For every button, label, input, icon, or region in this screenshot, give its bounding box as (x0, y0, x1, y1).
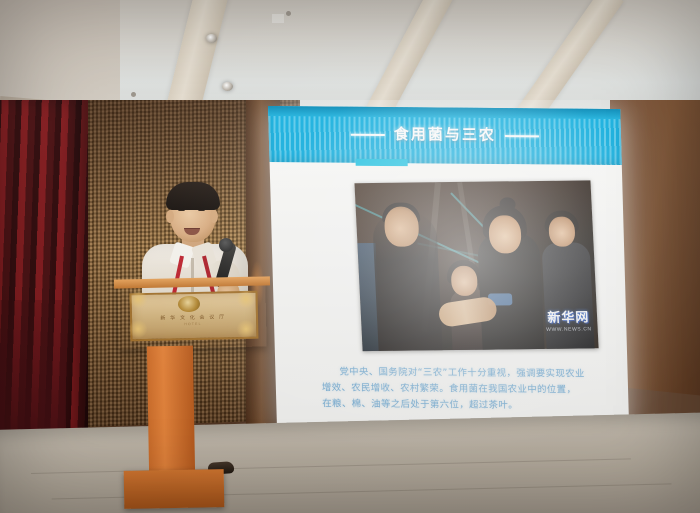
photo-watermark: 新华网 WWW.NEWS.CN (545, 306, 592, 333)
slide-title: 食用菌与三农 (268, 122, 621, 146)
ceiling-vent (272, 14, 284, 23)
xinhua-watermark-url: WWW.NEWS.CN (546, 326, 592, 333)
slide-body-line-3: 在粮、棉、油等之后处于第六位，超过茶叶。 (322, 396, 615, 415)
speaker-ear (210, 210, 218, 223)
slide-title-banner: 食用菌与三农 (268, 106, 622, 165)
floor-seam (31, 458, 631, 474)
podium-base (124, 469, 225, 509)
xinhua-watermark-logo: 新华网 (545, 306, 591, 326)
slide-surface: 食用菌与三农 (268, 106, 629, 439)
photo-leader-head (384, 206, 420, 246)
ceiling-spotlight-icon (222, 82, 233, 91)
title-dash-left (351, 133, 385, 135)
projection-screen: 食用菌与三农 (268, 106, 629, 441)
room-interior: 食用菌与三农 (0, 100, 700, 513)
conference-photo-scene: 食用菌与三农 (0, 0, 700, 513)
podium-stem (147, 346, 195, 477)
sprinkler-icon (131, 92, 136, 97)
podium-gold-corner (236, 290, 256, 308)
ceiling-spotlight-icon (206, 34, 217, 43)
photo-second-woman-body (541, 242, 594, 351)
photo-woman-head (488, 215, 522, 253)
slide-title-text: 食用菌与三农 (394, 125, 497, 144)
photo-second-woman-head (548, 217, 575, 247)
sprinkler-icon (286, 11, 291, 16)
banner-top-edge (268, 106, 621, 119)
banner-accent-tab (356, 159, 408, 166)
slide-photo: 新华网 WWW.NEWS.CN (354, 180, 598, 351)
podium-gold-corner (128, 290, 148, 308)
stage-floor (0, 412, 700, 513)
title-dash-right (505, 135, 539, 137)
photo-woman-hairbun (499, 197, 516, 211)
photo-child-head (451, 266, 478, 296)
slide-body-text: 党中央、国务院对“三农”工作十分重视，强调要实现农业 增效、农民增收、农村繁荣。… (321, 364, 615, 415)
speaker-hair (166, 182, 220, 210)
speaker-ear (166, 210, 174, 223)
